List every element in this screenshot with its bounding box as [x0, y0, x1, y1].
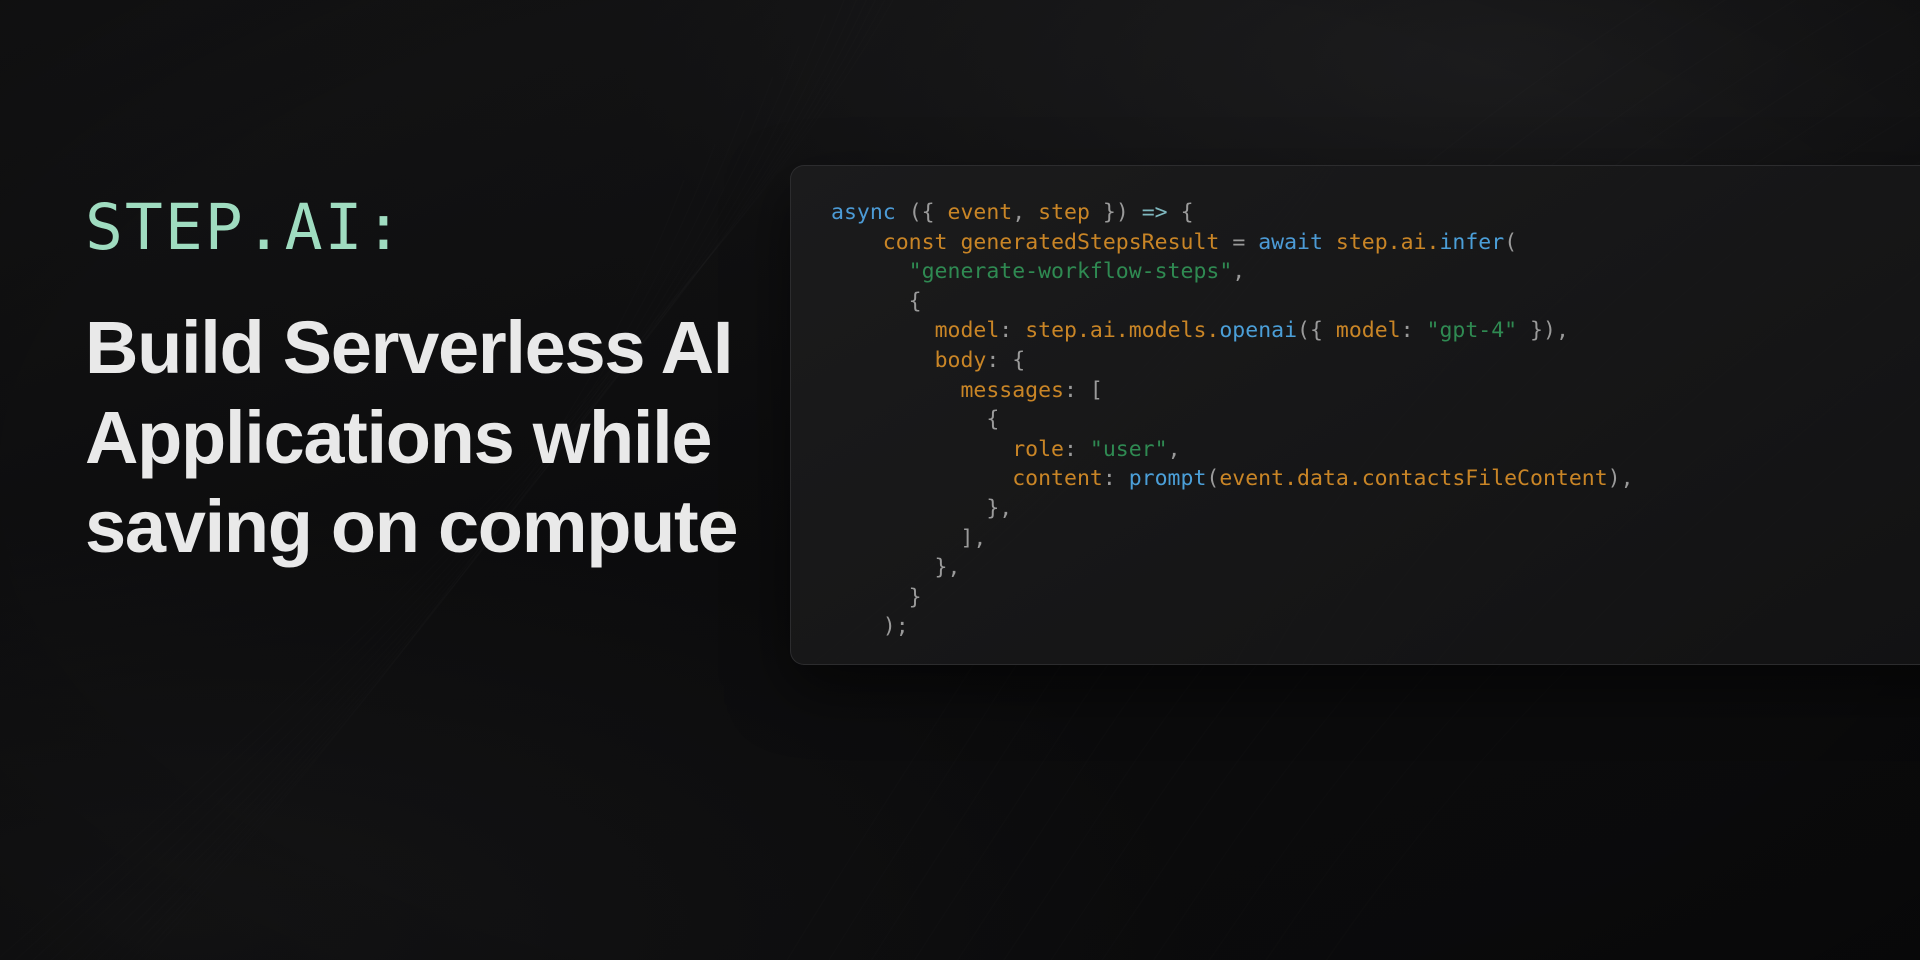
- code-block: async ({ event, step }) => { const gener…: [791, 166, 1920, 642]
- code-token: [831, 230, 883, 255]
- code-token: ({: [1297, 318, 1336, 343]
- code-token: ({: [909, 200, 935, 225]
- code-token: =>: [1142, 200, 1168, 225]
- code-token: role: [1012, 437, 1064, 462]
- code-token: "user": [1090, 437, 1168, 462]
- code-token: =: [1232, 230, 1245, 255]
- code-token: step.ai.: [1336, 230, 1440, 255]
- headline-line: saving on compute: [85, 482, 785, 572]
- code-token: await: [1258, 230, 1323, 255]
- code-token: :: [1103, 466, 1129, 491]
- code-token: "generate-workflow-steps": [909, 259, 1233, 284]
- code-token: event.data.contactsFileContent: [1219, 466, 1607, 491]
- code-token: generatedStepsResult: [960, 230, 1219, 255]
- code-line: "generate-workflow-steps",: [831, 257, 1920, 287]
- code-token: [831, 318, 935, 343]
- code-token: [831, 378, 960, 403]
- code-line: }: [831, 583, 1920, 613]
- code-token: [896, 200, 909, 225]
- code-token: [831, 437, 1012, 462]
- code-token: [1323, 230, 1336, 255]
- code-token: step: [1038, 200, 1090, 225]
- code-token: :: [999, 318, 1025, 343]
- code-token: ,: [1012, 200, 1038, 225]
- code-token: : {: [986, 348, 1025, 373]
- code-token: ),: [1608, 466, 1634, 491]
- code-token: step.ai.models.: [1025, 318, 1219, 343]
- headline-line: Build Serverless AI: [85, 303, 785, 393]
- code-token: "gpt-4": [1427, 318, 1518, 343]
- code-token: openai: [1219, 318, 1297, 343]
- code-token: {: [1168, 200, 1194, 225]
- code-line: },: [831, 553, 1920, 583]
- code-token: ,: [1232, 259, 1245, 284]
- code-token: [1129, 200, 1142, 225]
- code-line: model: step.ai.models.openai({ model: "g…: [831, 316, 1920, 346]
- code-token: content: [1012, 466, 1103, 491]
- code-token: },: [831, 555, 960, 580]
- code-token: const: [883, 230, 948, 255]
- code-token: }),: [1517, 318, 1569, 343]
- code-line: const generatedStepsResult = await step.…: [831, 228, 1920, 258]
- code-token: async: [831, 200, 896, 225]
- code-token: [935, 200, 948, 225]
- code-token: }): [1090, 200, 1129, 225]
- code-token: (: [1206, 466, 1219, 491]
- code-line: ],: [831, 524, 1920, 554]
- eyebrow-label: STEP.AI:: [85, 196, 785, 259]
- code-line: messages: [: [831, 376, 1920, 406]
- code-token: [831, 259, 909, 284]
- code-token: body: [935, 348, 987, 373]
- code-token: }: [831, 585, 922, 610]
- code-token: (: [1504, 230, 1517, 255]
- code-token: ,: [1168, 437, 1181, 462]
- code-token: :: [1401, 318, 1427, 343]
- code-token: [1245, 230, 1258, 255]
- code-token: ],: [831, 526, 986, 551]
- code-token: model: [935, 318, 1000, 343]
- code-line: content: prompt(event.data.contactsFileC…: [831, 464, 1920, 494]
- code-line: {: [831, 405, 1920, 435]
- hero-text-column: STEP.AI: Build Serverless AI Application…: [85, 196, 785, 572]
- headline-line: Applications while: [85, 393, 785, 483]
- code-token: : [: [1064, 378, 1103, 403]
- code-token: );: [831, 614, 909, 639]
- code-token: [948, 230, 961, 255]
- code-token: :: [1064, 437, 1090, 462]
- code-line: },: [831, 494, 1920, 524]
- code-token: event: [948, 200, 1013, 225]
- code-token: messages: [960, 378, 1064, 403]
- code-token: [831, 466, 1012, 491]
- code-token: },: [831, 496, 1012, 521]
- code-line: role: "user",: [831, 435, 1920, 465]
- code-line: body: {: [831, 346, 1920, 376]
- code-token: {: [831, 407, 999, 432]
- code-token: [831, 348, 935, 373]
- code-token: model: [1336, 318, 1401, 343]
- code-token: infer: [1439, 230, 1504, 255]
- code-line: {: [831, 287, 1920, 317]
- code-token: [1219, 230, 1232, 255]
- code-line: async ({ event, step }) => {: [831, 198, 1920, 228]
- code-token: {: [831, 289, 922, 314]
- code-line: );: [831, 612, 1920, 642]
- page-title: Build Serverless AI Applications while s…: [85, 303, 785, 572]
- code-token: prompt: [1129, 466, 1207, 491]
- code-snippet-panel: async ({ event, step }) => { const gener…: [790, 165, 1920, 665]
